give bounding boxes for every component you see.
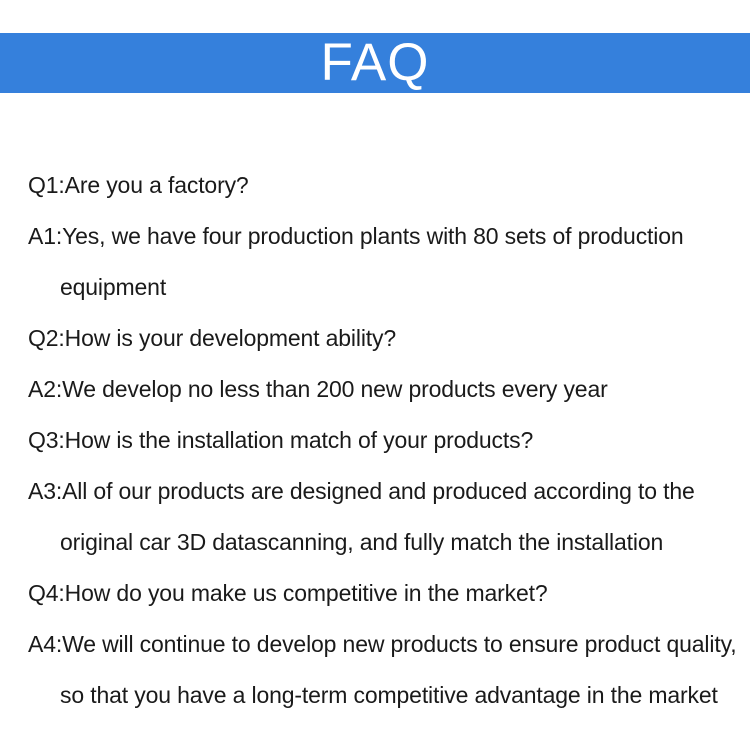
page-title: FAQ (320, 36, 429, 89)
faq-question-2: Q2:How is your development ability? (28, 313, 740, 364)
faq-answer-2: A2:We develop no less than 200 new produ… (28, 364, 740, 415)
faq-answer-4-continuation: so that you have a long-term competitive… (28, 670, 740, 721)
faq-content: Q1:Are you a factory? A1:Yes, we have fo… (28, 160, 740, 721)
faq-answer-4: A4:We will continue to develop new produ… (28, 619, 740, 670)
faq-answer-1-continuation: equipment (28, 262, 740, 313)
faq-answer-1: A1:Yes, we have four production plants w… (28, 211, 740, 262)
faq-answer-3: A3:All of our products are designed and … (28, 466, 740, 517)
faq-banner: FAQ (0, 33, 750, 93)
faq-question-3: Q3:How is the installation match of your… (28, 415, 740, 466)
faq-question-4: Q4:How do you make us competitive in the… (28, 568, 740, 619)
faq-question-1: Q1:Are you a factory? (28, 160, 740, 211)
faq-page: FAQ Q1:Are you a factory? A1:Yes, we hav… (0, 0, 750, 750)
faq-answer-3-continuation: original car 3D datascanning, and fully … (28, 517, 740, 568)
